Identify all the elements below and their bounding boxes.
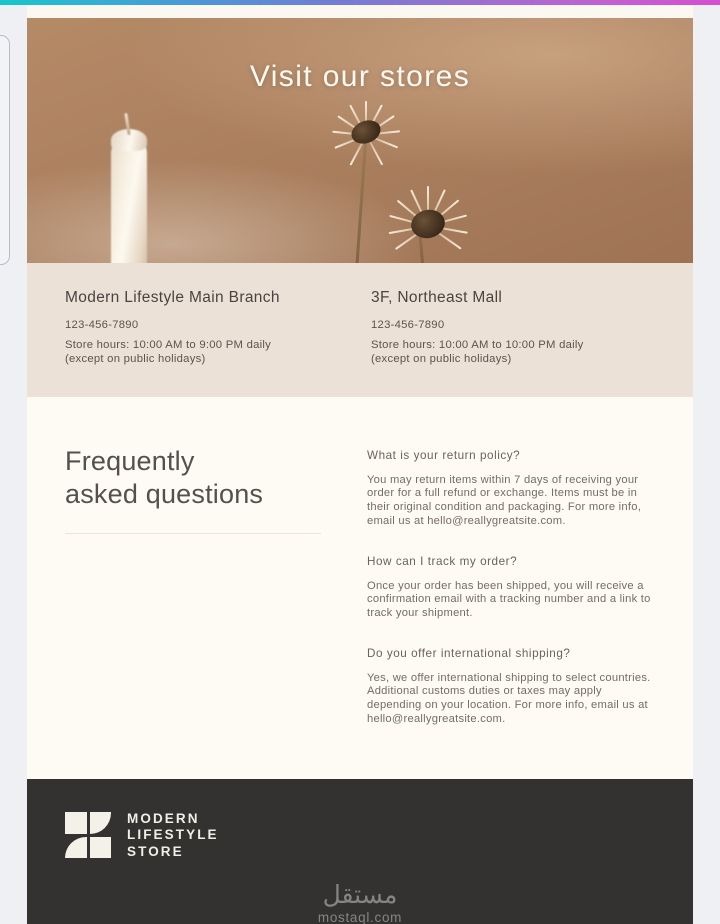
store-card: 3F, Northeast Mall 123-456-7890 Store ho…	[371, 289, 655, 367]
logo-tile-top-left	[65, 812, 87, 834]
brand-line-3: STORE	[127, 844, 219, 861]
faq-heading-line-1: Frequently	[65, 446, 195, 476]
store-phone[interactable]: 123-456-7890	[371, 318, 655, 333]
hero-section: Visit our stores	[27, 18, 693, 263]
faq-question[interactable]: What is your return policy?	[367, 449, 655, 462]
brand-line-2: LIFESTYLE	[127, 827, 219, 844]
store-hours: Store hours: 10:00 AM to 10:00 PM daily	[371, 338, 655, 353]
faq-heading-block: Frequently asked questions	[65, 445, 341, 727]
logo-tile-top-right	[90, 812, 112, 834]
screenshot-stage: Visit our stores Modern Lifestyle Main B…	[0, 0, 720, 924]
watermark-arabic-text: مستقل	[27, 881, 693, 909]
faq-question[interactable]: How can I track my order?	[367, 555, 655, 568]
left-chrome-panel[interactable]	[0, 35, 10, 265]
candle-icon	[111, 137, 147, 263]
store-hours-note: (except on public holidays)	[371, 352, 655, 367]
faq-item[interactable]: Do you offer international shipping? Yes…	[367, 647, 655, 727]
store-locations-section: Modern Lifestyle Main Branch 123-456-789…	[27, 263, 693, 397]
brand-wordmark: MODERN LIFESTYLE STORE	[127, 811, 219, 861]
footer-brand[interactable]: MODERN LIFESTYLE STORE	[65, 811, 655, 861]
dried-flower-icon	[327, 96, 405, 174]
watermark-domain-text: mostaql.com	[27, 910, 693, 924]
faq-answer: Once your order has been shipped, you wi…	[367, 580, 655, 621]
brand-line-1: MODERN	[127, 811, 219, 828]
hero-photo	[27, 18, 693, 263]
store-card: Modern Lifestyle Main Branch 123-456-789…	[65, 289, 349, 367]
faq-answer: You may return items within 7 days of re…	[367, 474, 655, 529]
browser-accent-gradient-bar	[0, 0, 720, 5]
store-name: 3F, Northeast Mall	[371, 289, 655, 307]
logo-tile-bottom-right	[90, 837, 112, 859]
store-hours-note: (except on public holidays)	[65, 352, 349, 367]
faq-item[interactable]: What is your return policy? You may retu…	[367, 449, 655, 529]
mostaql-watermark: مستقل mostaql.com	[27, 881, 693, 924]
dried-flower-icon	[379, 180, 477, 263]
store-hours: Store hours: 10:00 AM to 9:00 PM daily	[65, 338, 349, 353]
faq-question[interactable]: Do you offer international shipping?	[367, 647, 655, 660]
logo-tile-bottom-left	[65, 837, 87, 859]
store-name: Modern Lifestyle Main Branch	[65, 289, 349, 307]
faq-item[interactable]: How can I track my order? Once your orde…	[367, 555, 655, 621]
store-phone[interactable]: 123-456-7890	[65, 318, 349, 333]
faq-heading: Frequently asked questions	[65, 445, 341, 511]
hero-title: Visit our stores	[27, 60, 693, 94]
webpage-canvas: Visit our stores Modern Lifestyle Main B…	[27, 5, 693, 924]
faq-list: What is your return policy? You may retu…	[367, 445, 655, 727]
faq-divider	[65, 533, 321, 534]
faq-answer: Yes, we offer international shipping to …	[367, 672, 655, 727]
site-footer: MODERN LIFESTYLE STORE مستقل mostaql.com	[27, 779, 693, 924]
faq-heading-line-2: asked questions	[65, 479, 263, 509]
faq-section: Frequently asked questions What is your …	[27, 397, 693, 779]
modern-lifestyle-store-logo-icon	[65, 812, 111, 858]
